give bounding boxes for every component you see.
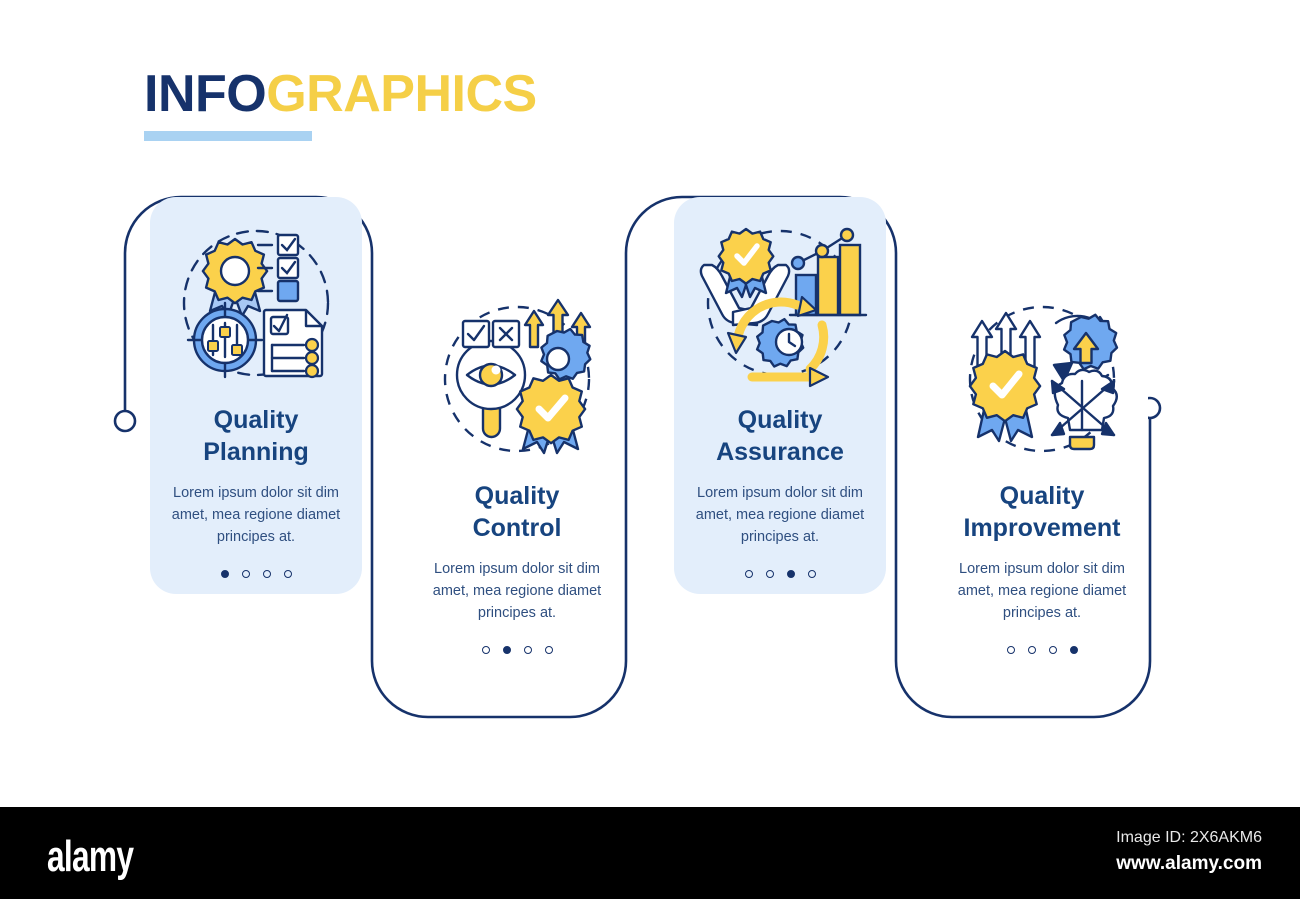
step-body-1: Lorem ipsum dolor sit dim amet, mea regi…	[158, 482, 354, 548]
alamy-logo: alamy	[47, 832, 133, 882]
progress-dot[interactable]	[1049, 646, 1057, 654]
step-title-2: QualityControl	[417, 481, 617, 544]
watermark-footer: alamy Image ID: 2X6AKM6 www.alamy.com	[0, 807, 1300, 899]
step-body-3: Lorem ipsum dolor sit dim amet, mea regi…	[682, 482, 878, 548]
step-title-1: QualityPlanning	[156, 405, 356, 468]
quality-assurance-icon	[690, 213, 870, 393]
progress-dot[interactable]	[766, 570, 774, 578]
step-card-3[interactable]: QualityAssurance Lorem ipsum dolor sit d…	[674, 197, 886, 594]
step-progress-dots-3[interactable]	[745, 570, 816, 578]
progress-dot[interactable]	[524, 646, 532, 654]
progress-dot[interactable]	[808, 570, 816, 578]
step-card-1[interactable]: QualityPlanning Lorem ipsum dolor sit di…	[150, 197, 362, 594]
step-progress-dots-4[interactable]	[1007, 646, 1078, 654]
progress-dot[interactable]	[1007, 646, 1015, 654]
quality-planning-icon	[166, 213, 346, 393]
progress-dot[interactable]	[745, 570, 753, 578]
step-card-4[interactable]: QualityImprovement Lorem ipsum dolor sit…	[936, 273, 1148, 670]
progress-dot[interactable]	[503, 646, 511, 654]
progress-dot[interactable]	[242, 570, 250, 578]
chain-start-node	[115, 411, 135, 431]
progress-dot[interactable]	[545, 646, 553, 654]
progress-dot[interactable]	[787, 570, 795, 578]
image-id-label: Image ID: 2X6AKM6	[1116, 829, 1262, 847]
progress-dot[interactable]	[1070, 646, 1078, 654]
step-card-2[interactable]: QualityControl Lorem ipsum dolor sit dim…	[411, 273, 623, 670]
progress-dot[interactable]	[284, 570, 292, 578]
progress-dot[interactable]	[263, 570, 271, 578]
progress-dot[interactable]	[1028, 646, 1036, 654]
step-progress-dots-1[interactable]	[221, 570, 292, 578]
quality-improvement-icon	[952, 289, 1132, 469]
progress-dot[interactable]	[482, 646, 490, 654]
alamy-url-label: www.alamy.com	[1116, 853, 1262, 875]
step-title-4: QualityImprovement	[942, 481, 1142, 544]
quality-control-icon	[427, 289, 607, 469]
step-body-2: Lorem ipsum dolor sit dim amet, mea regi…	[419, 558, 615, 624]
step-progress-dots-2[interactable]	[482, 646, 553, 654]
step-title-3: QualityAssurance	[680, 405, 880, 468]
progress-dot[interactable]	[221, 570, 229, 578]
step-body-4: Lorem ipsum dolor sit dim amet, mea regi…	[944, 558, 1140, 624]
infographic-canvas: INFOGRAPHICS	[0, 0, 1300, 899]
